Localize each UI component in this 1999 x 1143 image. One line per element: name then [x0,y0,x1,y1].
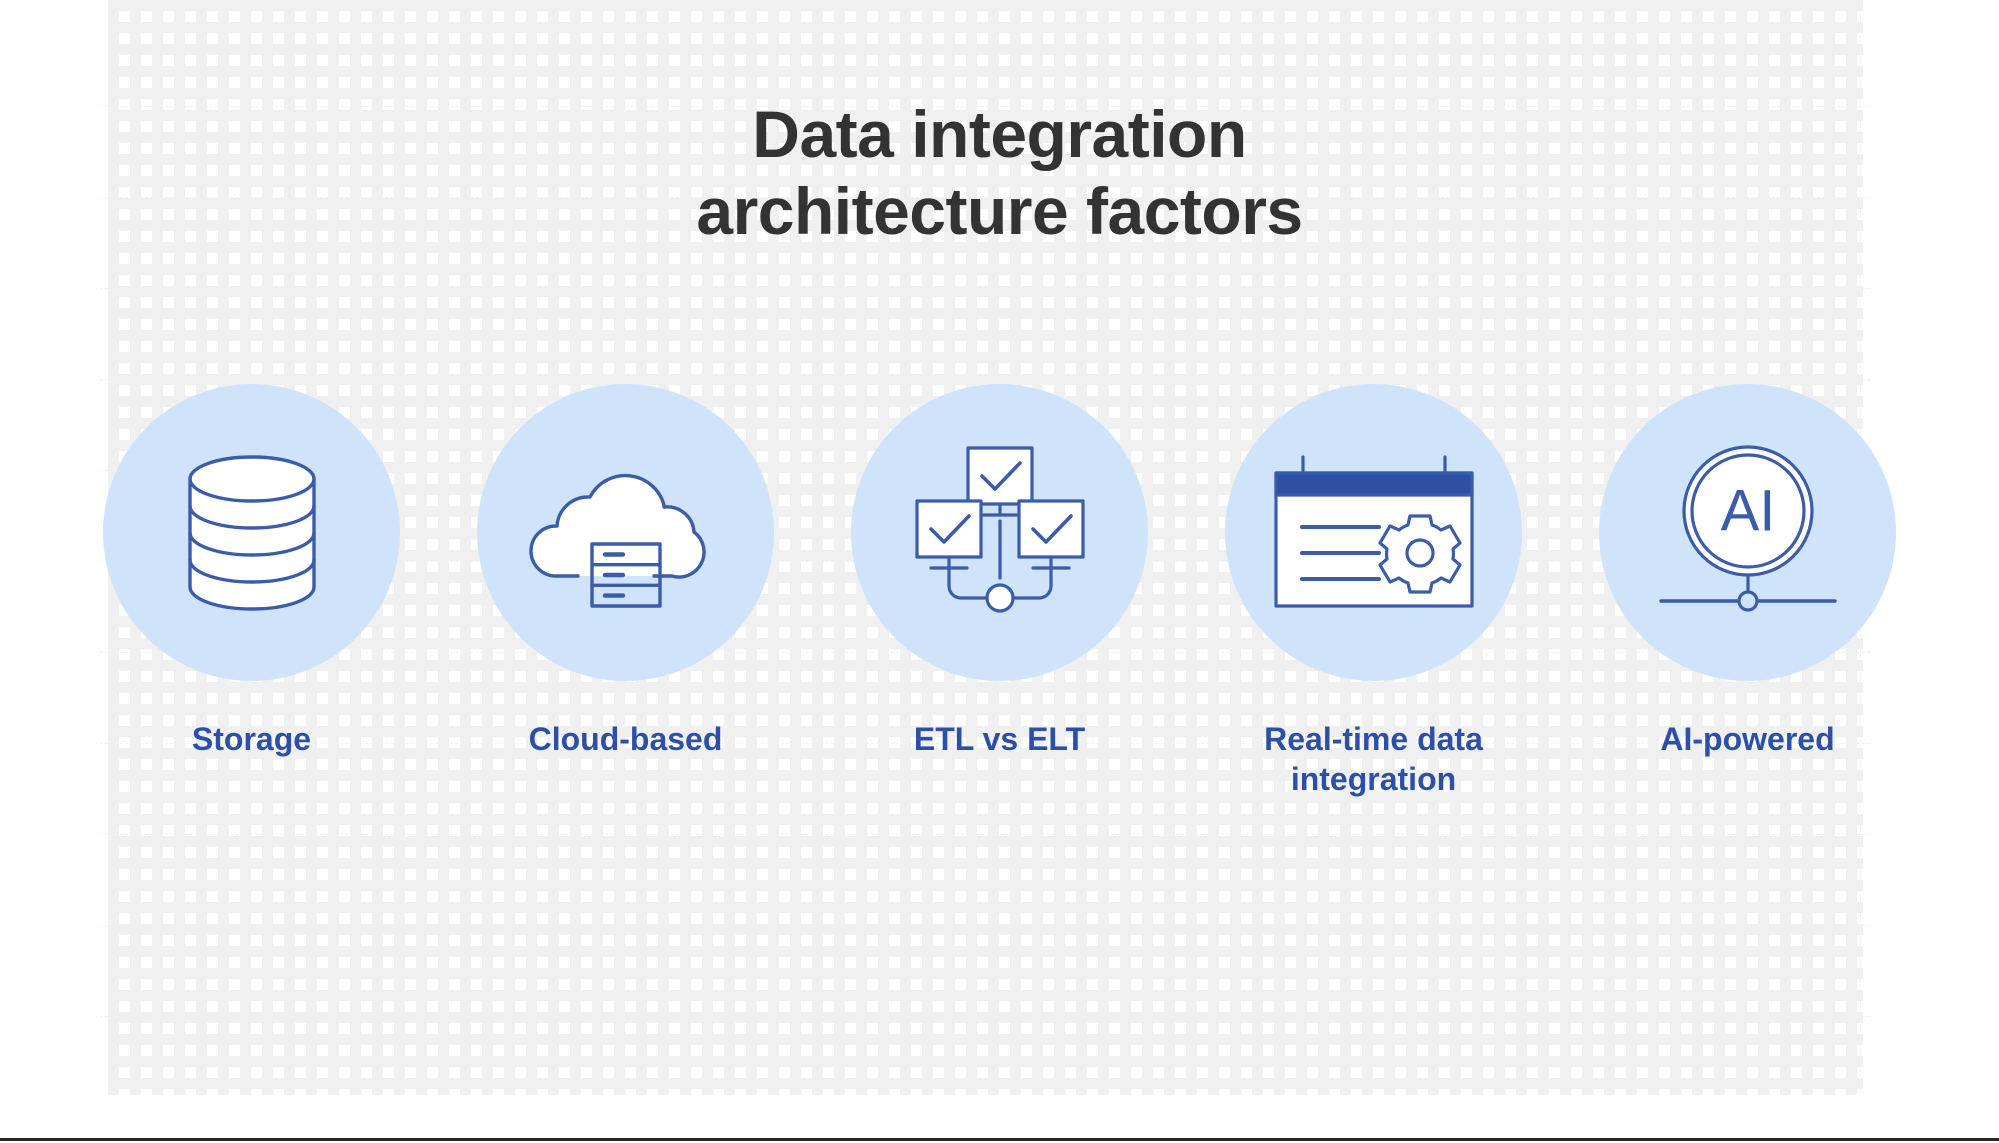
icon-circle-storage [103,384,400,681]
database-cylinder-icon [177,453,327,613]
factor-label-ai-powered: AI-powered [1598,719,1898,759]
grid-line-h [100,288,1870,289]
bottom-divider [0,1138,1999,1141]
factor-label-storage: Storage [102,719,402,759]
factor-label-cloud-based: Cloud-based [476,719,776,759]
network-nodes-checkmarks-icon [912,445,1088,621]
factor-label-real-time-data-integration: Real-time data integration [1224,719,1524,799]
icon-circle-etl-vs-elt [851,384,1148,681]
page-title: Data integration architecture factors [0,96,1999,249]
factor-item-cloud-based[interactable]: Cloud-based [477,384,774,759]
grid-line-h [100,1016,1870,1017]
grid-line-h [100,834,1870,835]
ai-badge-icon: AI [1653,443,1843,623]
board-gear-icon [1274,455,1474,610]
grid-line-h [100,379,1870,380]
factor-label-etl-vs-elt: ETL vs ELT [850,719,1150,759]
factor-item-storage[interactable]: Storage [103,384,400,759]
factor-item-etl-vs-elt[interactable]: ETL vs ELT [851,384,1148,759]
factor-item-real-time-data-integration[interactable]: Real-time data integration [1225,384,1522,799]
factor-list: Storage [103,384,1896,799]
icon-circle-ai-powered: AI [1599,384,1896,681]
infographic-canvas: Data integration architecture factors St… [0,0,1999,1143]
cloud-server-icon [531,450,721,615]
grid-line-h [100,925,1870,926]
ai-icon-text: AI [1720,478,1775,543]
icon-circle-cloud-based [477,384,774,681]
factor-item-ai-powered[interactable]: AI AI-powered [1599,384,1896,759]
icon-circle-real-time-data-integration [1225,384,1522,681]
